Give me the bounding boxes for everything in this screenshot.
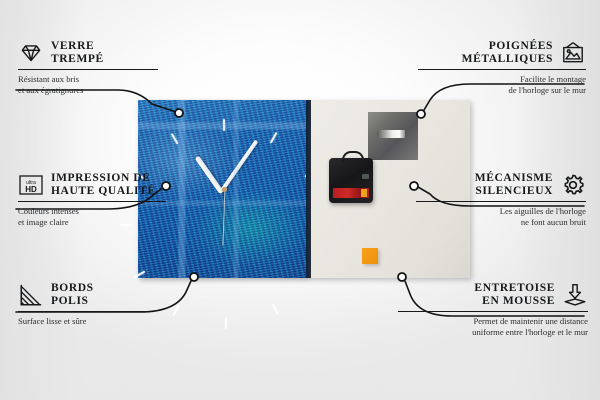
- gear-icon: [560, 172, 586, 198]
- callout-rule: [18, 69, 158, 70]
- callout-title-line1: ENTRETOISE: [474, 282, 555, 295]
- callout-title-line1: MÉCANISME: [475, 172, 553, 185]
- callout-entretoise-en-mousse: ENTRETOISE EN MOUSSE Permet de maintenir…: [398, 282, 588, 337]
- callout-verre-trempe: VERRE TREMPÉ Résistant aux bris et aux é…: [18, 40, 158, 95]
- diamond-icon: [18, 40, 44, 66]
- bracket-slot: [377, 130, 405, 138]
- callout-subtitle-line2: uniforme entre l'horloge et le mur: [398, 327, 588, 338]
- callout-impression-haute-qualite: ultra HD IMPRESSION DE HAUTE QUALITÉ Cou…: [18, 172, 166, 227]
- clock-pivot: [222, 187, 227, 192]
- callout-subtitle-line2: ne font aucun bruit: [416, 217, 586, 228]
- callout-rule: [418, 69, 586, 70]
- wall-hanger-icon: [560, 40, 586, 66]
- callout-rule: [416, 201, 586, 202]
- callout-subtitle-line1: Les aiguilles de l'horloge: [416, 206, 586, 217]
- hanger-loop: [342, 151, 364, 163]
- minute-hand: [221, 140, 259, 191]
- callout-rule: [398, 311, 588, 312]
- callout-subtitle-line1: Surface lisse et sûre: [18, 316, 148, 327]
- callout-title-line2: EN MOUSSE: [474, 295, 555, 308]
- callout-title-line2: TREMPÉ: [51, 53, 104, 66]
- hour-hand: [195, 155, 224, 194]
- callout-subtitle-line2: de l'horloge sur le mur: [418, 85, 586, 96]
- callout-title-line1: VERRE: [51, 40, 104, 53]
- callout-title-line1: POIGNÉES: [462, 40, 553, 53]
- battery: [333, 188, 369, 198]
- metal-bracket: [368, 112, 418, 160]
- callout-title-line1: IMPRESSION DE: [51, 172, 156, 185]
- callout-subtitle-line1: Permet de maintenir une distance: [398, 316, 588, 327]
- callout-title-line2: POLIS: [51, 295, 94, 308]
- callout-title-line2: HAUTE QUALITÉ: [51, 185, 156, 198]
- foam-spacer-icon: [562, 282, 588, 308]
- time-set-dial: [362, 174, 369, 179]
- callout-subtitle-line2: et image claire: [18, 217, 166, 228]
- foam-spacer: [362, 248, 378, 264]
- callout-rule: [18, 201, 166, 202]
- callout-subtitle-line1: Couleurs intenses: [18, 206, 166, 217]
- callout-subtitle-line1: Facilite le montage: [418, 74, 586, 85]
- callout-title-line1: BORDS: [51, 282, 94, 295]
- infographic-canvas: VERRE TREMPÉ Résistant aux bris et aux é…: [0, 0, 600, 400]
- svg-text:HD: HD: [25, 185, 37, 194]
- callout-subtitle-line1: Résistant aux bris: [18, 74, 158, 85]
- ultra-hd-icon: ultra HD: [18, 172, 44, 198]
- clock-mechanism: [329, 158, 373, 203]
- callout-title-line2: SILENCIEUX: [475, 185, 553, 198]
- callout-poignees-metalliques: POIGNÉES MÉTALLIQUES Facilite le montage…: [418, 40, 586, 95]
- polished-edge-icon: [18, 282, 44, 308]
- second-hand: [222, 190, 225, 246]
- callout-bords-polis: BORDS POLIS Surface lisse et sûre: [18, 282, 148, 327]
- callout-title-line2: MÉTALLIQUES: [462, 53, 553, 66]
- callout-subtitle-line2: et aux égratignures: [18, 85, 158, 96]
- callout-mecanisme-silencieux: MÉCANISME SILENCIEUX Les aiguilles de l'…: [416, 172, 586, 227]
- callout-rule: [18, 311, 148, 312]
